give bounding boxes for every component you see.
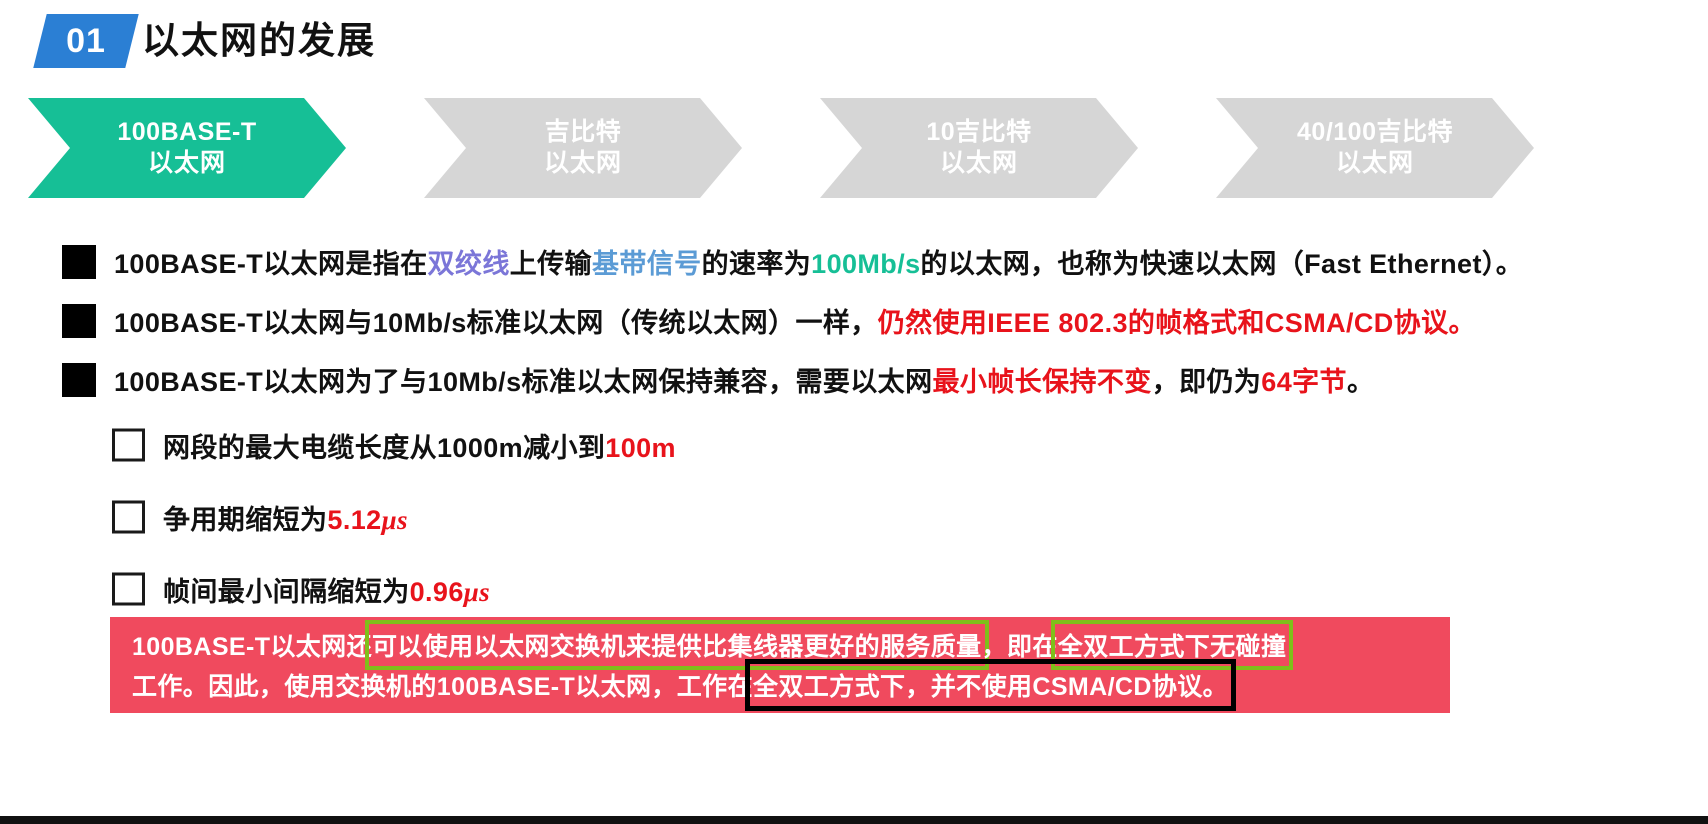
text-run: 100BASE-T以太网是指在 xyxy=(114,249,428,279)
text-run: 网段的最大电缆长度从1000m减小到 xyxy=(163,433,605,463)
conclusion-callout: 100BASE-T以太网还可以使用以太网交换机来提供比集线器更好的服务质量，即在… xyxy=(110,617,1450,713)
text-run: 的以太网，也称为快速以太网（Fast Ethernet）。 xyxy=(921,249,1524,279)
empty-checkbox-icon[interactable] xyxy=(112,429,145,462)
checklist-item-1-text: 网段的最大电缆长度从1000m减小到100m xyxy=(163,426,676,465)
chevron-step-2-line1: 吉比特 xyxy=(545,117,622,148)
text-run: 。 xyxy=(1347,367,1374,397)
text-run: 争用期缩短为 xyxy=(163,505,327,535)
text-run: 100BASE-T以太网与10Mb/s标准以太网（传统以太网）一样， xyxy=(114,308,878,338)
text-run: 最小帧长保持不变 xyxy=(932,367,1151,397)
bullet-item-2-text: 100BASE-T以太网与10Mb/s标准以太网（传统以太网）一样，仍然使用IE… xyxy=(114,301,1476,340)
callout-text-run: 100BASE-T以太网还 xyxy=(132,627,372,663)
empty-checkbox-icon[interactable] xyxy=(112,501,145,534)
text-run: 的速率为 xyxy=(702,249,812,279)
chevron-step-2[interactable]: 吉比特以太网 xyxy=(424,98,742,198)
filled-square-bullet-icon xyxy=(62,304,96,338)
text-run: 100Mb/s xyxy=(811,249,920,279)
text-run: 帧间最小间隔缩短为 xyxy=(163,577,410,607)
page-title: 以太网的发展 xyxy=(142,12,376,70)
checklist-item-1: 网段的最大电缆长度从1000m减小到100m xyxy=(0,409,1708,481)
callout-text-run: 工作。因此，使用交换机的100BASE-T以太网，工作在 xyxy=(132,667,753,703)
callout-highlight-black: 全双工方式下，并不使用CSMA/CD协议。 xyxy=(753,667,1228,703)
checklist-item-2: 争用期缩短为5.12μs xyxy=(0,481,1708,553)
text-run: 64字节 xyxy=(1261,367,1347,397)
bullet-list: 100BASE-T以太网是指在双绞线上传输基带信号的速率为100Mb/s的以太网… xyxy=(0,232,1708,625)
bullet-item-3: 100BASE-T以太网为了与10Mb/s标准以太网保持兼容，需要以太网最小帧长… xyxy=(0,350,1708,409)
callout-text-run: ，即在 xyxy=(982,627,1058,663)
bullet-item-1-text: 100BASE-T以太网是指在双绞线上传输基带信号的速率为100Mb/s的以太网… xyxy=(114,242,1523,281)
chevron-nav: 100BASE-T以太网吉比特以太网10吉比特以太网40/100吉比特以太网 xyxy=(0,98,1708,198)
slide-root: 01 以太网的发展 100BASE-T以太网吉比特以太网10吉比特以太网40/1… xyxy=(0,0,1708,824)
callout-highlight-lime: 可以使用以太网交换机来提供比集线器更好的服务质量 xyxy=(372,627,982,663)
chevron-step-3-line1: 10吉比特 xyxy=(926,117,1031,148)
checklist-item-2-text: 争用期缩短为5.12μs xyxy=(163,498,408,537)
section-number-label: 01 xyxy=(40,14,132,68)
slide-header: 01 以太网的发展 xyxy=(0,0,1708,84)
text-run: μs xyxy=(464,577,490,607)
bullet-item-2: 100BASE-T以太网与10Mb/s标准以太网（传统以太网）一样，仍然使用IE… xyxy=(0,291,1708,350)
callout-line-2: 工作。因此，使用交换机的100BASE-T以太网，工作在全双工方式下，并不使用C… xyxy=(110,665,1450,705)
chevron-step-1-line2: 以太网 xyxy=(148,148,226,179)
chevron-step-1-line1: 100BASE-T xyxy=(117,117,256,148)
text-run: 5.12 xyxy=(327,505,381,535)
chevron-step-2-line2: 以太网 xyxy=(544,148,622,179)
chevron-step-3-line2: 以太网 xyxy=(940,148,1018,179)
text-run: 基带信号 xyxy=(592,249,702,279)
chevron-step-3[interactable]: 10吉比特以太网 xyxy=(820,98,1138,198)
chevron-step-4-line2: 以太网 xyxy=(1336,148,1414,179)
text-run: μs xyxy=(382,505,408,535)
text-run: 100m xyxy=(605,433,676,463)
text-run: 上传输 xyxy=(510,249,592,279)
chevron-step-4-line1: 40/100吉比特 xyxy=(1297,117,1453,148)
chevron-step-1[interactable]: 100BASE-T以太网 xyxy=(28,98,346,198)
checklist-item-3: 帧间最小间隔缩短为0.96μs xyxy=(0,553,1708,625)
bottom-strip xyxy=(0,816,1708,824)
text-run: 仍然使用IEEE 802.3的帧格式和CSMA/CD协议。 xyxy=(878,308,1476,338)
empty-checkbox-icon[interactable] xyxy=(112,573,145,606)
filled-square-bullet-icon xyxy=(62,363,96,397)
filled-square-bullet-icon xyxy=(62,245,96,279)
bullet-item-1: 100BASE-T以太网是指在双绞线上传输基带信号的速率为100Mb/s的以太网… xyxy=(0,232,1708,291)
text-run: 0.96 xyxy=(410,577,464,607)
chevron-step-4[interactable]: 40/100吉比特以太网 xyxy=(1216,98,1534,198)
text-run: 双绞线 xyxy=(428,249,510,279)
callout-line-1: 100BASE-T以太网还可以使用以太网交换机来提供比集线器更好的服务质量，即在… xyxy=(110,625,1450,665)
callout-highlight-lime: 全双工方式下无碰撞 xyxy=(1058,627,1287,663)
checklist-item-3-text: 帧间最小间隔缩短为0.96μs xyxy=(163,570,490,609)
bilibili-play-watermark-icon xyxy=(1532,704,1642,796)
text-run: 100BASE-T以太网为了与10Mb/s标准以太网保持兼容，需要以太网 xyxy=(114,367,932,397)
text-run: ，即仍为 xyxy=(1152,367,1262,397)
bullet-item-3-text: 100BASE-T以太网为了与10Mb/s标准以太网保持兼容，需要以太网最小帧长… xyxy=(114,360,1374,399)
